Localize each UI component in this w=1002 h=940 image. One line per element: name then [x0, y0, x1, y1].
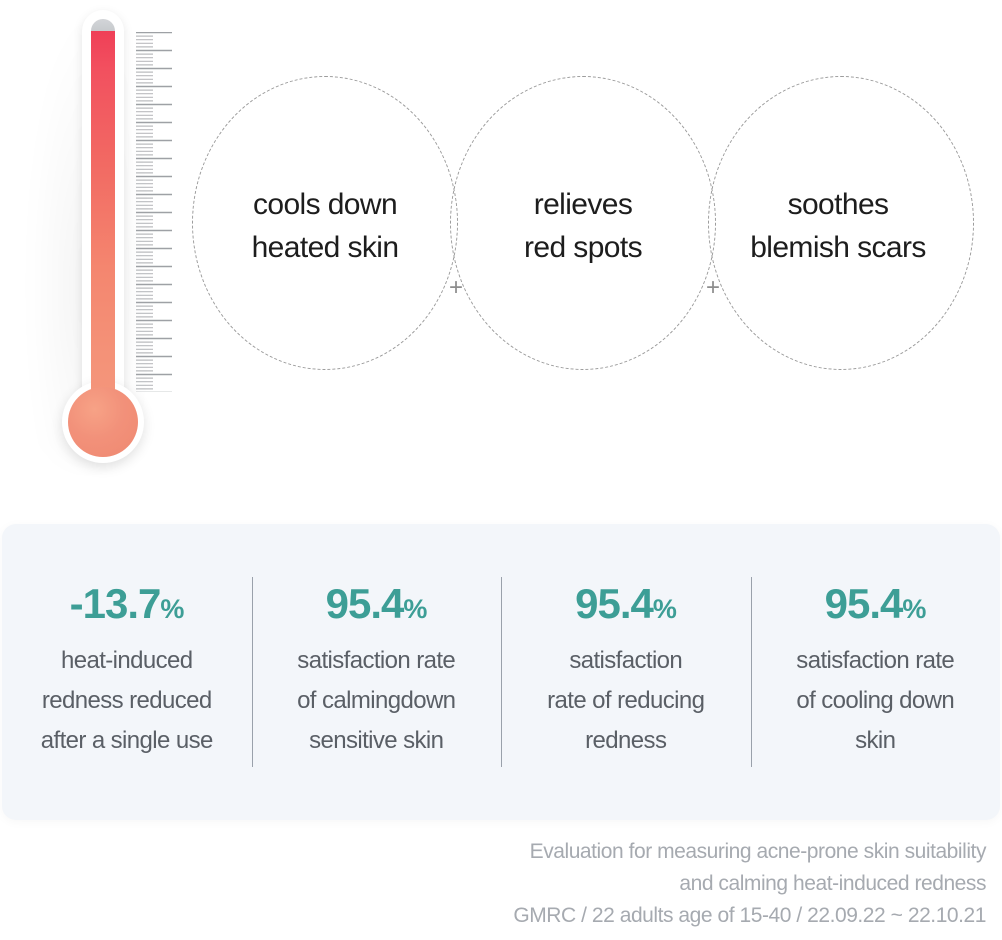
stat-number-4: 95.4 — [825, 580, 903, 627]
venn-label-3-line1: soothes — [705, 184, 971, 227]
stat-column-2: 95.4% satisfaction rate of calmingdown s… — [252, 583, 502, 760]
stat-value-4: 95.4% — [757, 583, 995, 625]
stat-desc-1-line3: after a single use — [8, 721, 246, 761]
footnote-line3: GMRC / 22 adults age of 15-40 / 22.09.22… — [0, 900, 986, 932]
stat-column-4: 95.4% satisfaction rate of cooling down … — [751, 583, 1001, 760]
stat-unit-2: % — [403, 594, 427, 624]
stat-value-1: -13.7% — [8, 583, 246, 625]
thermometer-bulb — [68, 387, 138, 457]
stat-number-3: 95.4 — [575, 580, 653, 627]
stat-desc-2-line3: sensitive skin — [258, 721, 496, 761]
thermometer-scale-icon — [136, 32, 172, 392]
stat-description-3: satisfaction rate of reducing redness — [507, 641, 745, 760]
thermometer-mercury — [91, 31, 115, 413]
footnote-line1: Evaluation for measuring acne-prone skin… — [0, 836, 986, 868]
clinical-results-panel: -13.7% heat-induced redness reduced afte… — [2, 524, 1000, 820]
venn-label-1-line2: heated skin — [192, 227, 458, 270]
stat-desc-4-line3: skin — [757, 721, 995, 761]
thermometer-illustration — [0, 0, 200, 480]
venn-label-1: cools down heated skin — [192, 184, 458, 270]
venn-label-2: relieves red spots — [450, 184, 716, 270]
stat-unit-4: % — [902, 594, 926, 624]
stat-desc-1-line1: heat-induced — [8, 641, 246, 681]
stat-description-1: heat-induced redness reduced after a sin… — [8, 641, 246, 760]
benefits-venn-diagram: cools down heated skin relieves red spot… — [178, 74, 1002, 374]
stat-value-3: 95.4% — [507, 583, 745, 625]
venn-label-1-line1: cools down — [192, 184, 458, 227]
stat-description-2: satisfaction rate of calmingdown sensiti… — [258, 641, 496, 760]
stat-desc-1-line2: redness reduced — [8, 681, 246, 721]
stat-number-2: 95.4 — [326, 580, 404, 627]
stat-column-1: -13.7% heat-induced redness reduced afte… — [2, 583, 252, 760]
plus-icon-1: + — [444, 276, 468, 300]
stat-unit-1: % — [160, 594, 184, 624]
study-footnote: Evaluation for measuring acne-prone skin… — [0, 836, 986, 932]
stat-desc-3-line3: redness — [507, 721, 745, 761]
venn-label-3: soothes blemish scars — [705, 184, 971, 270]
stat-desc-2-line1: satisfaction rate — [258, 641, 496, 681]
stat-desc-3-line2: rate of reducing — [507, 681, 745, 721]
stat-desc-4-line2: of cooling down — [757, 681, 995, 721]
stat-description-4: satisfaction rate of cooling down skin — [757, 641, 995, 760]
stat-value-2: 95.4% — [258, 583, 496, 625]
stat-desc-2-line2: of calmingdown — [258, 681, 496, 721]
venn-label-3-line2: blemish scars — [705, 227, 971, 270]
stat-number-1: -13.7 — [70, 580, 161, 627]
venn-label-2-line2: red spots — [450, 227, 716, 270]
plus-icon-2: + — [701, 276, 725, 300]
stat-column-3: 95.4% satisfaction rate of reducing redn… — [501, 583, 751, 760]
venn-label-2-line1: relieves — [450, 184, 716, 227]
footnote-line2: and calming heat-induced redness — [0, 868, 986, 900]
stat-desc-3-line1: satisfaction — [507, 641, 745, 681]
stat-desc-4-line1: satisfaction rate — [757, 641, 995, 681]
stat-unit-3: % — [653, 594, 677, 624]
